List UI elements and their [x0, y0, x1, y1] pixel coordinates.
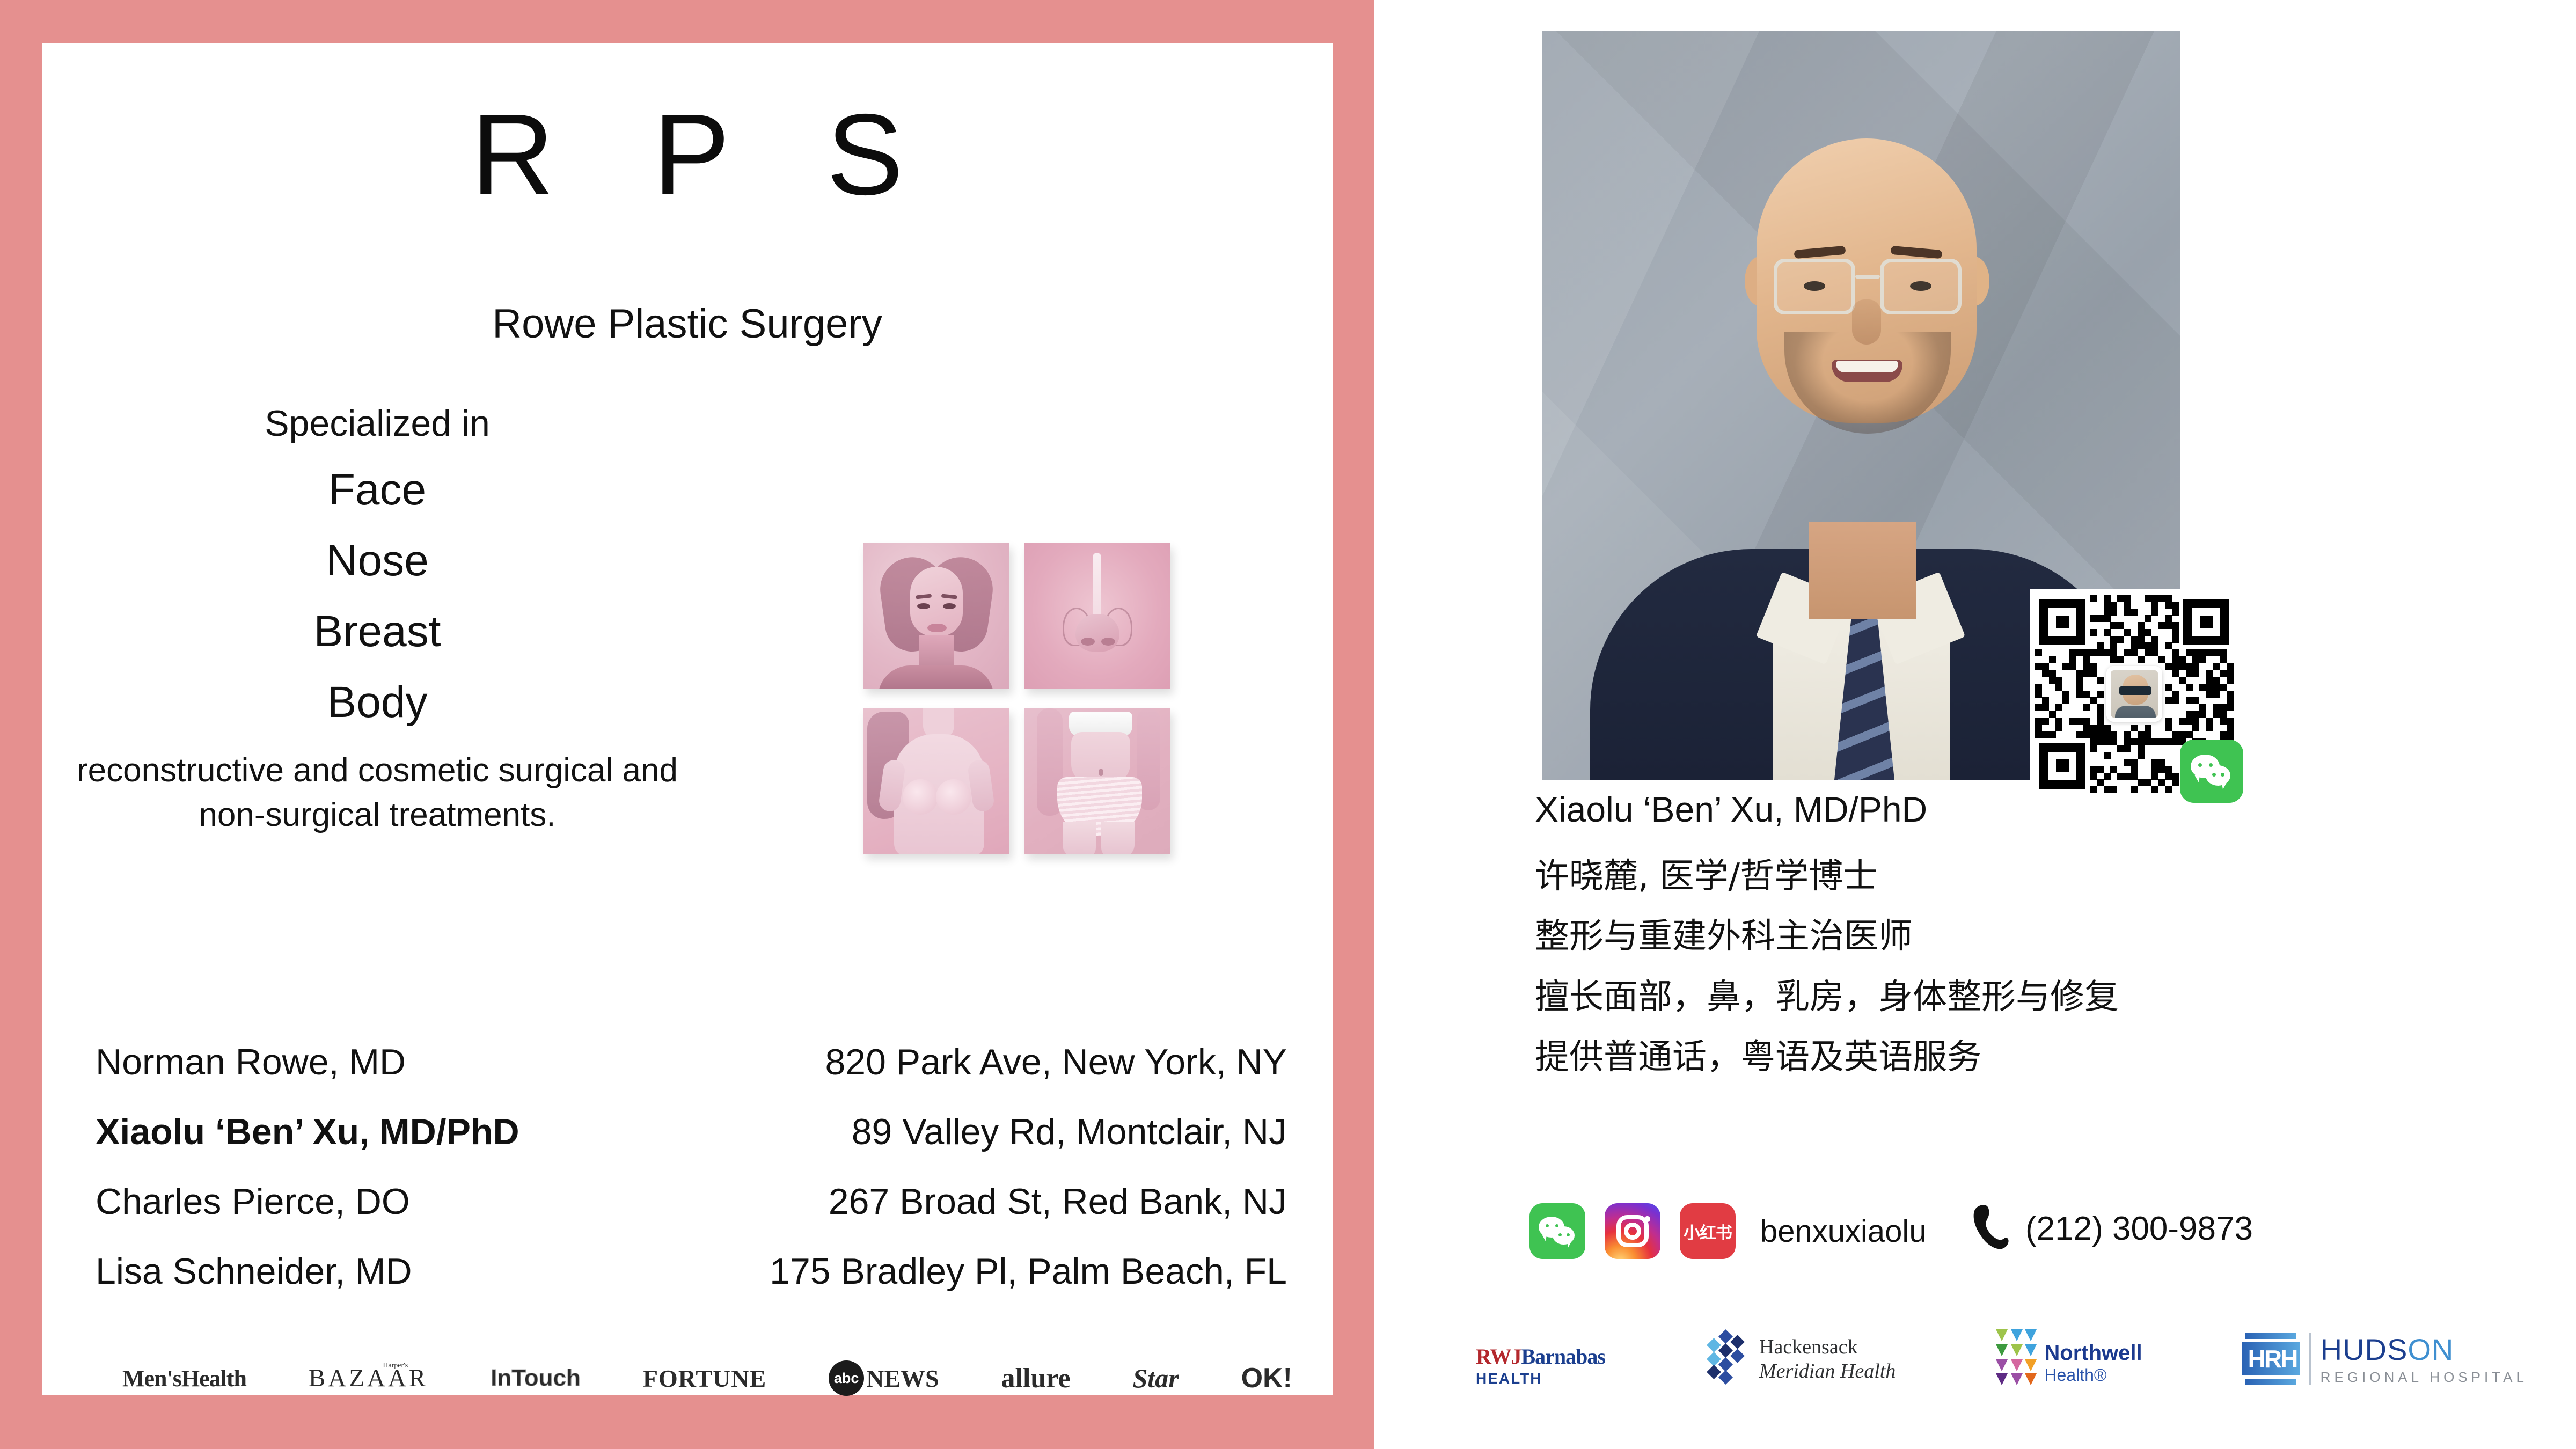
doctor-name: Xiaolu ‘Ben’ Xu, MD/PhD [96, 1111, 519, 1153]
nose-illustration [1024, 543, 1170, 689]
specialty-face: Face [74, 465, 680, 515]
instagram-icon[interactable] [1605, 1203, 1660, 1259]
brand-logo-letters: R P S [42, 97, 1333, 212]
doctor-name: Norman Rowe, MD [96, 1041, 406, 1083]
specialty-breast: Breast [74, 606, 680, 657]
breast-illustration [863, 708, 1009, 854]
business-card-page: R P S Rowe Plastic Surgery Specialized i… [0, 0, 2576, 1449]
phone-number: (212) 300-9873 [2025, 1210, 2253, 1248]
office-address: 89 Valley Rd, Montclair, NJ [852, 1111, 1287, 1153]
rwj-health-word: HEALTH [1476, 1370, 1605, 1387]
doctor-roster: Norman Rowe, MD 820 Park Ave, New York, … [96, 1041, 1287, 1320]
star-logo: Star [1133, 1363, 1179, 1394]
table-row: Xiaolu ‘Ben’ Xu, MD/PhD 89 Valley Rd, Mo… [96, 1111, 1287, 1153]
hudson-word-a: HUDS [2321, 1333, 2408, 1366]
bazaar-wordmark: BAZAAR [309, 1364, 428, 1392]
left-pink-panel: R P S Rowe Plastic Surgery Specialized i… [0, 0, 1374, 1449]
barnabas-mark: Barnabas [1521, 1344, 1605, 1368]
abc-news-logo: abc NEWS [829, 1360, 939, 1396]
hospital-affiliations-strip: RWJBarnabas HEALTH Hackensack [1476, 1328, 2528, 1387]
press-logo-strip: Men'sHealth BAZAARHarper's InTouch FORTU… [122, 1360, 1292, 1396]
specialty-body: Body [74, 677, 680, 728]
doctor-credentials-cn: 许晓麓, 医学/哲学博士 [1535, 858, 2286, 895]
abc-disc-icon: abc [829, 1360, 864, 1396]
specialties-column: Specialized in Face Nose Breast Body rec… [74, 402, 680, 837]
doctor-name-en: Xiaolu ‘Ben’ Xu, MD/PhD [1535, 789, 2286, 830]
specialty-nose: Nose [74, 536, 680, 586]
hrh-letters: HRH [2248, 1344, 2297, 1373]
meridian-health-word: Meridian Health [1759, 1360, 1896, 1382]
brand-subtitle: Rowe Plastic Surgery [42, 301, 1333, 347]
treatment-image-collage [863, 543, 1170, 854]
left-white-card: R P S Rowe Plastic Surgery Specialized i… [42, 43, 1333, 1395]
abc-news-word: NEWS [866, 1364, 939, 1393]
hackensack-word: Hackensack [1759, 1336, 1858, 1358]
northwell-word: Northwell [2044, 1341, 2142, 1365]
specialized-heading: Specialized in [74, 402, 680, 444]
table-row: Charles Pierce, DO 267 Broad St, Red Ban… [96, 1181, 1287, 1223]
table-row: Lisa Schneider, MD 175 Bradley Pl, Palm … [96, 1250, 1287, 1292]
phone-group[interactable]: (212) 300-9873 [1970, 1203, 2253, 1254]
office-address: 820 Park Ave, New York, NY [825, 1041, 1287, 1083]
doctor-specialties-cn: 擅长面部，鼻，乳房，身体整形与修复 [1535, 978, 2286, 1016]
hudson-regional-hospital-logo: HRH HUDSON REGIONAL HOSPITAL [2242, 1330, 2528, 1387]
bazaar-harpers-sup: Harper's [383, 1362, 408, 1370]
mens-health-logo: Men'sHealth [122, 1365, 246, 1392]
rednote-xiaohongshu-icon[interactable]: 小红书 [1680, 1203, 1736, 1259]
regional-hospital-word: REGIONAL HOSPITAL [2321, 1369, 2528, 1386]
northwell-health-word: Health® [2044, 1365, 2106, 1385]
office-address: 267 Broad St, Red Bank, NJ [829, 1181, 1287, 1223]
intouch-logo: InTouch [491, 1365, 581, 1392]
doctor-name: Lisa Schneider, MD [96, 1250, 412, 1292]
wechat-icon[interactable] [1529, 1203, 1585, 1259]
diamond-cluster-icon [1704, 1331, 1751, 1387]
office-address: 175 Bradley Pl, Palm Beach, FL [770, 1250, 1287, 1292]
social-handle: benxuxiaolu [1760, 1213, 1927, 1249]
rwj-mark: RWJ [1476, 1344, 1521, 1368]
doctor-title-cn: 整形与重建外科主治医师 [1535, 918, 2286, 955]
rednote-glyph: 小红书 [1684, 1219, 1732, 1243]
social-handles-row: 小红书 benxuxiaolu [1529, 1203, 1927, 1259]
rwjbarnabas-logo: RWJBarnabas HEALTH [1476, 1344, 1605, 1387]
table-row: Norman Rowe, MD 820 Park Ave, New York, … [96, 1041, 1287, 1083]
qr-center-avatar [2106, 666, 2162, 722]
body-illustration [1024, 708, 1170, 854]
hackensack-meridian-logo: Hackensack Meridian Health [1704, 1331, 1896, 1387]
doctor-info-block: Xiaolu ‘Ben’ Xu, MD/PhD 许晓麓, 医学/哲学博士 整形与… [1535, 789, 2286, 1099]
face-illustration [863, 543, 1009, 689]
right-profile-panel: Xiaolu ‘Ben’ Xu, MD/PhD 许晓麓, 医学/哲学博士 整形与… [1374, 0, 2576, 1449]
phone-icon [1970, 1203, 2009, 1254]
doctor-name: Charles Pierce, DO [96, 1181, 410, 1223]
northwell-health-logo: Northwell Health® [1995, 1328, 2142, 1387]
doctor-languages-cn: 提供普通话，粤语及英语服务 [1535, 1038, 2286, 1076]
northwell-chevrons-icon [1995, 1328, 2040, 1387]
specialties-note: reconstructive and cosmetic surgical and… [74, 748, 680, 837]
allure-logo: allure [1001, 1363, 1071, 1394]
bazaar-logo: BAZAARHarper's [309, 1364, 428, 1393]
ok-magazine-logo: OK! [1241, 1362, 1292, 1394]
fortune-logo: FORTUNE [643, 1364, 766, 1393]
hudson-word-b: ON [2407, 1333, 2454, 1366]
hrh-monogram-icon: HRH [2242, 1330, 2300, 1387]
wechat-qr-code[interactable] [2030, 589, 2239, 799]
